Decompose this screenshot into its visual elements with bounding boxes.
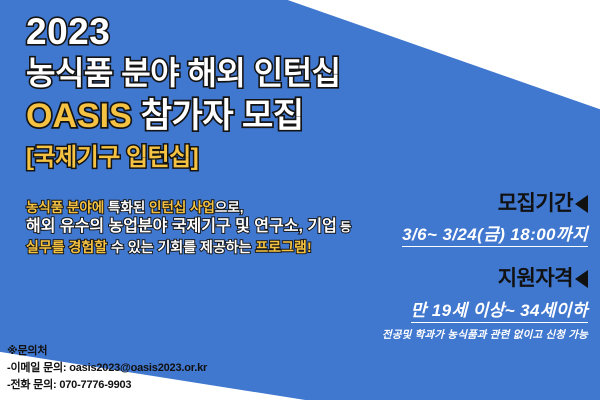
- body-line-3-text-b: 수 있는 기회를 제공하는: [107, 239, 255, 255]
- body-line-1-highlight-a: 농식품 분야에: [26, 200, 104, 215]
- triangle-left-icon: [575, 195, 588, 213]
- headline-brand-suffix: 참가자 모집: [132, 97, 304, 135]
- eligibility-note: 전공및 학과가 농식품과 관련 없이고 신청 가능: [338, 329, 588, 342]
- body-line-3-highlight-c: 프로그램!: [255, 239, 311, 255]
- headline-brand-line: OASIS 참가자 모집: [26, 96, 496, 137]
- headline-block: 2023 농식품 분야 해외 인턴십 OASIS 참가자 모집 [국제기구 입턴…: [26, 12, 496, 173]
- contact-block: ※문의처 -이메일 문의: oasis2023@oasis2023.or.kr …: [7, 343, 207, 394]
- body-line-2: 해외 유수의 농업분야 국제기구 및 연구소, 기업 등: [26, 217, 356, 237]
- body-line-1: 농식품 분야에 특화된 인턴십 사업으로,: [26, 199, 356, 216]
- body-line-2-text-a: 해외 유수의 농업분야 국제기구 및 연구소, 기업: [26, 218, 337, 235]
- period-heading-label: 모집기간: [498, 192, 573, 216]
- info-panel: 모집기간 3/6~ 3/24(금) 18:00까지 지원자격 만 19세 이상~…: [338, 192, 588, 341]
- eligibility-heading: 지원자격: [338, 267, 588, 291]
- headline-year: 2023: [26, 12, 496, 52]
- body-description: 농식품 분야에 특화된 인턴십 사업으로, 해외 유수의 농업분야 국제기구 및…: [26, 199, 356, 257]
- body-line-1-highlight-c: 인턴십 사업: [149, 200, 215, 215]
- body-line-1-text-d: 으로,: [215, 200, 244, 215]
- poster-canvas: 2023 농식품 분야 해외 인턴십 OASIS 참가자 모집 [국제기구 입턴…: [0, 0, 600, 400]
- info-block-period: 모집기간 3/6~ 3/24(금) 18:00까지: [338, 192, 588, 247]
- period-value: 3/6~ 3/24(금) 18:00까지: [402, 224, 588, 247]
- body-line-3-highlight-a: 실무를 경험할: [26, 239, 107, 255]
- contact-email: -이메일 문의: oasis2023@oasis2023.or.kr: [7, 360, 207, 377]
- body-line-1-text-b: 특화된: [104, 200, 149, 215]
- eligibility-value: 만 19세 이상~ 34세이하: [411, 300, 588, 323]
- body-line-3: 실무를 경험할 수 있는 기회를 제공하는 프로그램!: [26, 239, 356, 257]
- brand-name-oasis: OASIS: [26, 97, 132, 135]
- contact-title: ※문의처: [7, 343, 207, 360]
- headline-main-title: 농식품 분야 해외 인턴십: [26, 54, 496, 93]
- eligibility-heading-label: 지원자격: [498, 267, 573, 291]
- contact-phone: -전화 문의: 070-7776-9903: [7, 377, 207, 394]
- triangle-left-icon: [575, 270, 588, 288]
- info-block-eligibility: 지원자격 만 19세 이상~ 34세이하 전공및 학과가 농식품과 관련 없이고…: [338, 267, 588, 341]
- period-heading: 모집기간: [338, 192, 588, 216]
- headline-subtitle-bracket: [국제기구 입턴십]: [26, 144, 496, 173]
